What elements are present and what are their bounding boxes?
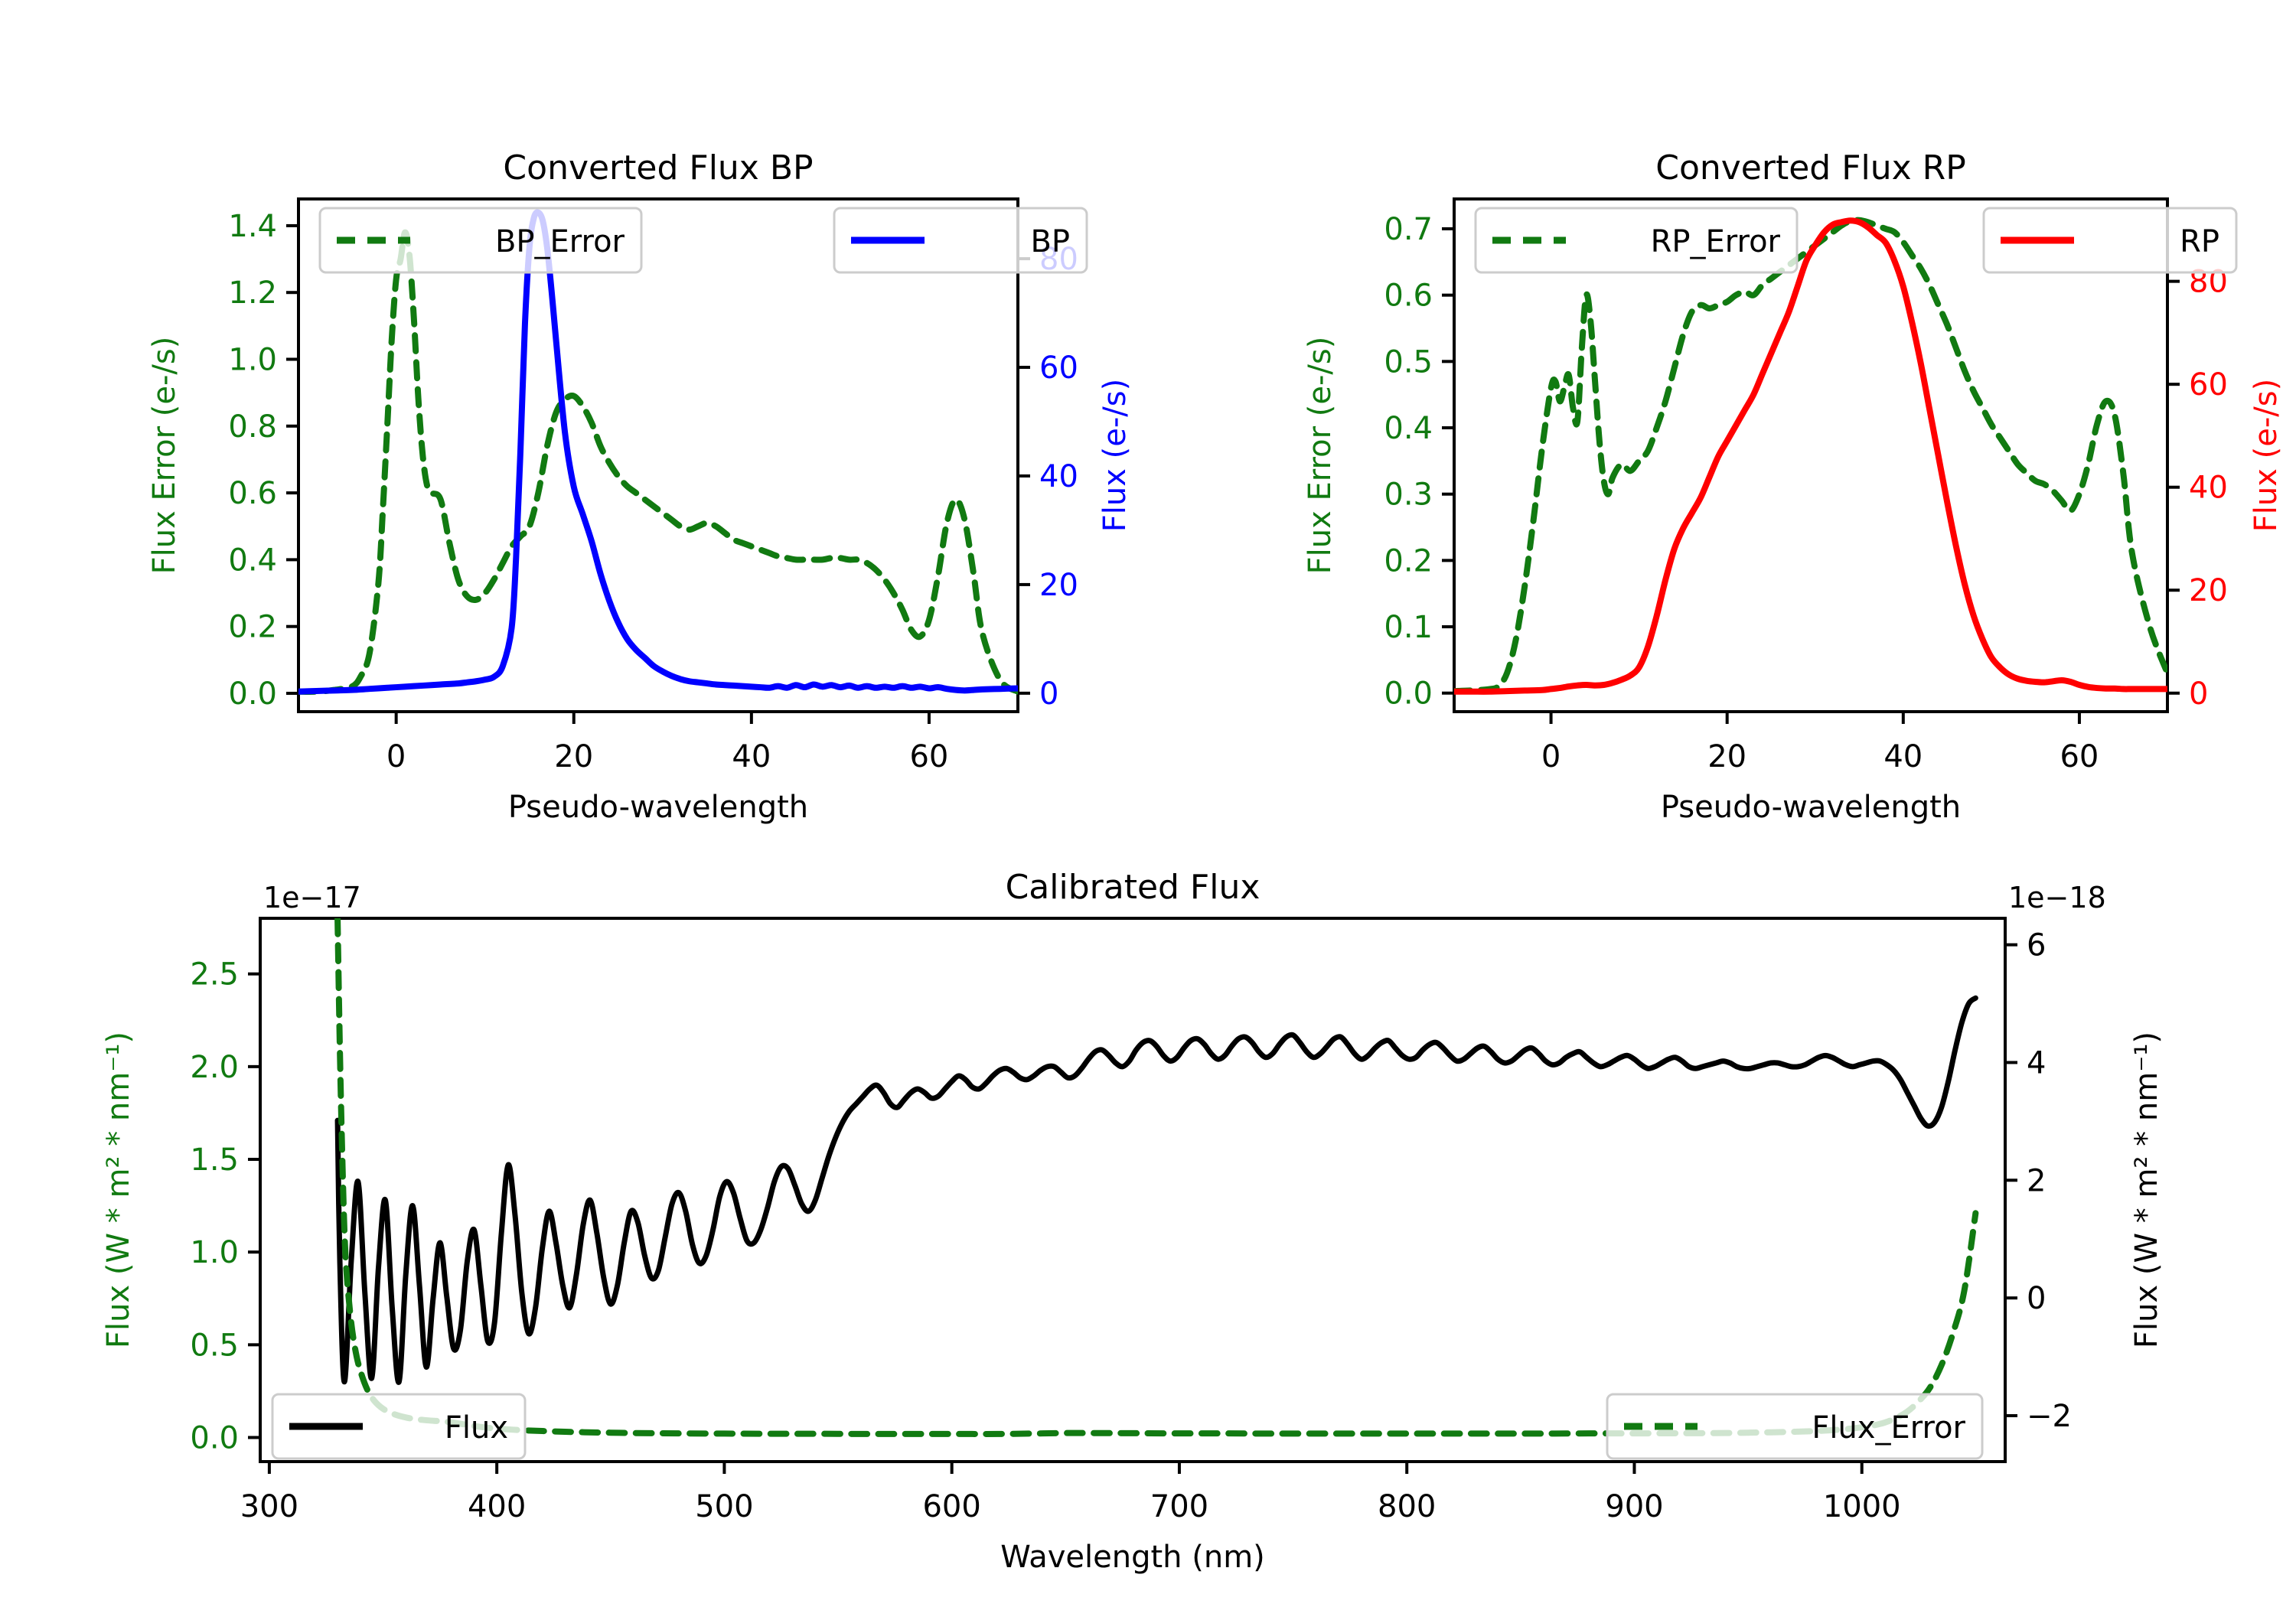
right-y-axis-label: Flux (e-/s) bbox=[2249, 379, 2284, 532]
x-tick-label: 400 bbox=[468, 1489, 526, 1524]
left-y-axis-label: Flux Error (e-/s) bbox=[1303, 337, 1338, 575]
left-y-tick-label: 0.2 bbox=[1384, 543, 1433, 579]
right-y-tick-label: 6 bbox=[2027, 928, 2046, 963]
legend-flux-error[interactable]: Flux_Error bbox=[1607, 1394, 1982, 1459]
x-tick-label: 60 bbox=[909, 739, 948, 774]
plot-frame bbox=[260, 918, 2005, 1462]
series-line-bp_error bbox=[298, 233, 1018, 692]
legend-bp-error[interactable]: BP_Error bbox=[320, 208, 641, 272]
left-y-tick-label: 1.0 bbox=[228, 343, 277, 378]
x-tick-label: 20 bbox=[554, 739, 593, 774]
right-y-tick-label: 60 bbox=[2189, 367, 2228, 403]
x-tick-label: 20 bbox=[1707, 739, 1746, 774]
left-y-tick-label: 0.4 bbox=[1384, 411, 1433, 446]
left-y-tick-label: 0.7 bbox=[1384, 212, 1433, 247]
right-y-tick-label: 0 bbox=[2027, 1281, 2046, 1316]
right-y-tick-label: 60 bbox=[1039, 350, 1078, 386]
legend-bp[interactable]: BP bbox=[834, 208, 1087, 272]
legend-label-bp: BP bbox=[1030, 224, 1070, 259]
right-y-tick-label: 20 bbox=[1039, 568, 1078, 603]
x-tick-label: 600 bbox=[922, 1489, 980, 1524]
left-axis-offset-label: 1e−17 bbox=[263, 881, 361, 914]
left-y-tick-label: 0.8 bbox=[228, 409, 277, 445]
right-y-tick-label: 20 bbox=[2189, 573, 2228, 608]
x-tick-label: 800 bbox=[1378, 1489, 1436, 1524]
left-y-tick-label: 1.4 bbox=[228, 209, 277, 244]
legend-flux[interactable]: Flux bbox=[272, 1394, 525, 1459]
left-y-tick-label: 0.6 bbox=[1384, 279, 1433, 314]
left-y-tick-label: 0.1 bbox=[1384, 610, 1433, 645]
left-y-tick-label: 0.3 bbox=[1384, 478, 1433, 513]
x-tick-label: 900 bbox=[1605, 1489, 1663, 1524]
x-tick-label: 40 bbox=[1883, 739, 1923, 774]
panel-converted-flux-rp: Converted Flux RP0204060Pseudo-wavelengt… bbox=[1148, 0, 2296, 819]
figure-canvas: Converted Flux BP0204060Pseudo-wavelengt… bbox=[0, 0, 2296, 1607]
left-y-tick-label: 0.0 bbox=[190, 1420, 239, 1455]
left-y-tick-label: 1.2 bbox=[228, 275, 277, 311]
right-y-axis-label: Flux (W * m² * nm⁻¹) bbox=[2129, 1032, 2164, 1348]
panel-title: Converted Flux BP bbox=[503, 148, 813, 187]
series-line-flux_error bbox=[338, 918, 1975, 1434]
left-y-tick-label: 0.4 bbox=[228, 543, 277, 578]
legend-rp[interactable]: RP bbox=[1984, 208, 2236, 272]
series-line-flux bbox=[338, 998, 1975, 1382]
x-tick-label: 700 bbox=[1150, 1489, 1208, 1524]
left-y-tick-label: 0.0 bbox=[228, 676, 277, 712]
left-y-tick-label: 0.5 bbox=[190, 1328, 239, 1363]
left-y-axis-label: Flux Error (e-/s) bbox=[147, 337, 182, 575]
x-tick-label: 60 bbox=[2060, 739, 2099, 774]
panel-calibrated-flux: Calibrated Flux1e−171e−18300400500600700… bbox=[0, 819, 2296, 1607]
right-y-tick-label: 40 bbox=[2189, 471, 2228, 506]
right-y-tick-label: 2 bbox=[2027, 1163, 2046, 1198]
left-y-axis-label: Flux (W * m² * nm⁻¹) bbox=[101, 1032, 136, 1348]
series-line-rp bbox=[1454, 220, 2167, 692]
legend-label-rp: RP bbox=[2180, 224, 2219, 259]
left-y-tick-label: 1.5 bbox=[190, 1143, 239, 1178]
plot-frame bbox=[298, 199, 1018, 712]
right-y-tick-label: 0 bbox=[1039, 676, 1058, 712]
legend-label-rp-error: RP_Error bbox=[1651, 224, 1781, 259]
series-line-rp_error bbox=[1454, 220, 2167, 692]
panel-title: Converted Flux RP bbox=[1655, 148, 1966, 187]
panel-converted-flux-bp: Converted Flux BP0204060Pseudo-wavelengt… bbox=[0, 0, 1148, 819]
right-y-tick-label: −2 bbox=[2027, 1399, 2072, 1434]
x-tick-label: 300 bbox=[240, 1489, 298, 1524]
legend-label-flux: Flux bbox=[445, 1410, 508, 1446]
right-y-tick-label: 40 bbox=[1039, 459, 1078, 494]
x-tick-label: 40 bbox=[732, 739, 771, 774]
legend-rp-error[interactable]: RP_Error bbox=[1476, 208, 1797, 272]
series-line-bp bbox=[298, 213, 1018, 692]
x-tick-label: 500 bbox=[695, 1489, 753, 1524]
x-axis-label: Wavelength (nm) bbox=[1000, 1540, 1265, 1575]
panel-title: Calibrated Flux bbox=[1006, 868, 1261, 907]
plot-frame bbox=[1454, 199, 2167, 712]
left-y-tick-label: 2.5 bbox=[190, 957, 239, 993]
legend-label-bp-error: BP_Error bbox=[495, 224, 625, 259]
left-y-tick-label: 0.0 bbox=[1384, 676, 1433, 712]
left-y-tick-label: 2.0 bbox=[190, 1050, 239, 1085]
left-y-tick-label: 0.6 bbox=[228, 476, 277, 511]
right-y-tick-label: 4 bbox=[2027, 1045, 2046, 1081]
right-axis-offset-label: 1e−18 bbox=[2008, 881, 2106, 914]
left-y-tick-label: 0.5 bbox=[1384, 344, 1433, 380]
left-y-tick-label: 1.0 bbox=[190, 1235, 239, 1270]
legend-label-flux-error: Flux_Error bbox=[1812, 1410, 1965, 1446]
right-y-axis-label: Flux (e-/s) bbox=[1097, 379, 1133, 532]
right-y-tick-label: 0 bbox=[2189, 676, 2208, 712]
x-tick-label: 0 bbox=[386, 739, 406, 774]
x-tick-label: 1000 bbox=[1823, 1489, 1901, 1524]
x-tick-label: 0 bbox=[1541, 739, 1561, 774]
left-y-tick-label: 0.2 bbox=[228, 610, 277, 645]
